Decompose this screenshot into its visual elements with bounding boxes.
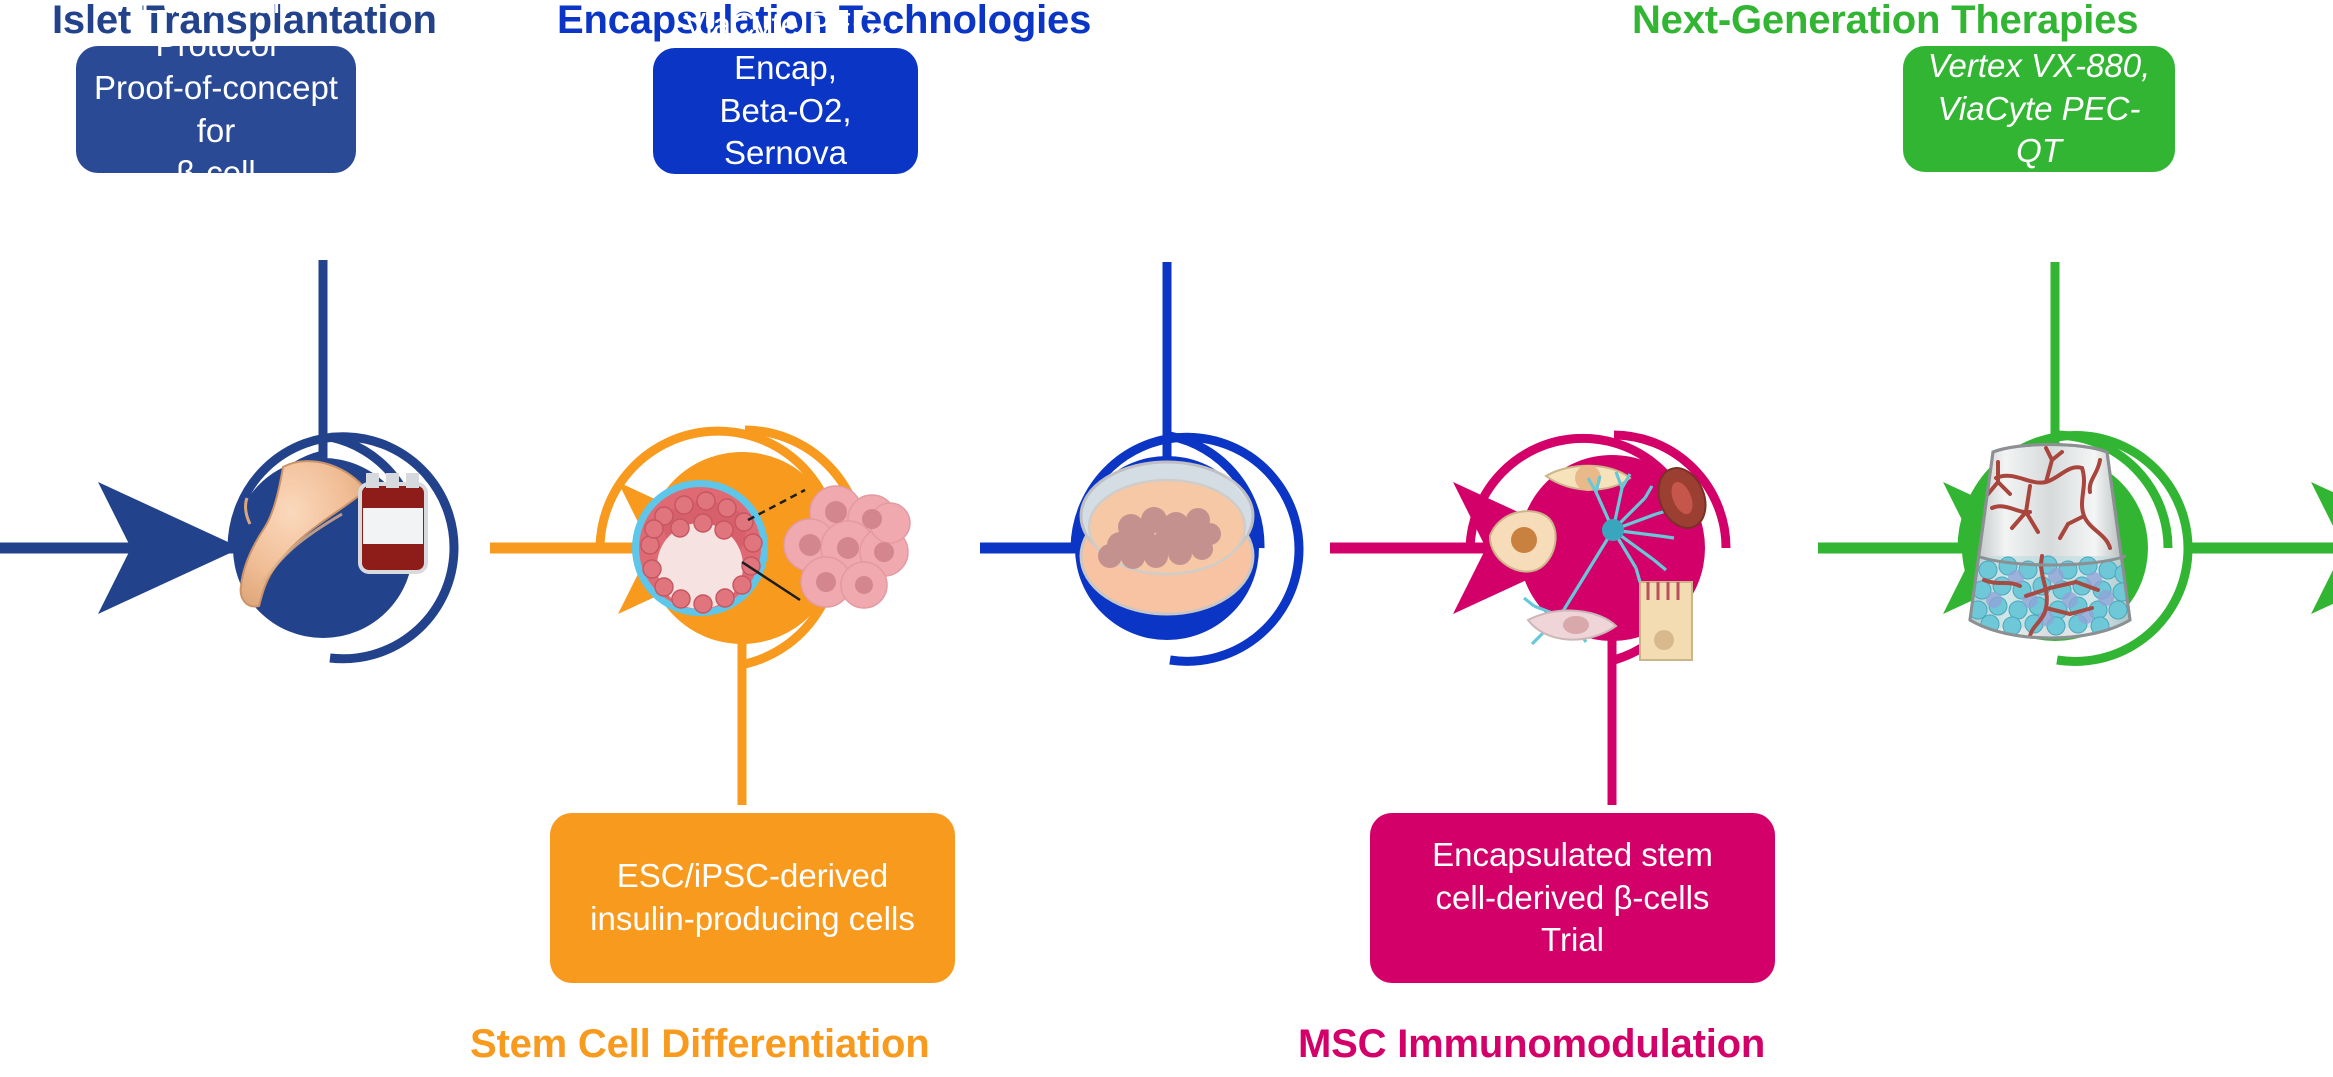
node-msc[interactable] [1470, 435, 1726, 660]
footer-stem-cell-differentiation: Stem Cell Differentiation [470, 1022, 930, 1067]
box-encapsulation-line-2: Beta-O2, Sernova [667, 90, 904, 176]
box-edmonton-line-3: β-cell replacement [90, 152, 342, 238]
box-encapsulation-line-1: ViaCyte PEC-Encap, [667, 4, 904, 90]
box-nextgen-line-1: Vertex VX-880, [1917, 45, 2161, 88]
box-nextgen-products[interactable]: Vertex VX-880, ViaCyte PEC-QT [1903, 46, 2175, 172]
box-msc-line-3: Trial [1432, 919, 1713, 962]
box-nextgen-line-2: ViaCyte PEC-QT [1917, 88, 2161, 174]
petri-dish-icon [1081, 462, 1253, 614]
box-edmonton-line-2: Proof-of-concept for [90, 67, 342, 153]
box-msc-line-1: Encapsulated stem [1432, 834, 1713, 877]
box-stemcell-line-2: insulin-producing cells [590, 898, 915, 941]
box-encapsulation-products[interactable]: ViaCyte PEC-Encap, Beta-O2, Sernova Cell… [653, 48, 918, 174]
node-encapsulation[interactable] [1075, 436, 1299, 661]
node-islet[interactable] [232, 437, 454, 659]
header-next-generation-therapies: Next-Generation Therapies [1632, 0, 2138, 43]
box-edmonton-line-1: Edmonton Protocol [90, 0, 342, 67]
box-msc-trial[interactable]: Encapsulated stem cell-derived β-cells T… [1370, 813, 1775, 983]
diagram-canvas: Islet Transplantation Encapsulation Tech… [0, 0, 2333, 1077]
box-stem-cell-derived[interactable]: ESC/iPSC-derived insulin-producing cells [550, 813, 955, 983]
box-edmonton-protocol[interactable]: Edmonton Protocol Proof-of-concept for β… [76, 46, 356, 173]
box-encapsulation-line-3: Cell Pouch [667, 175, 904, 218]
node-stemcell[interactable] [600, 430, 910, 664]
vascularized-device-icon [1968, 445, 2134, 639]
box-msc-line-2: cell-derived β-cells [1432, 877, 1713, 920]
node-nextgen[interactable] [1962, 435, 2188, 661]
footer-msc-immunomodulation: MSC Immunomodulation [1298, 1022, 1765, 1067]
box-stemcell-line-1: ESC/iPSC-derived [590, 855, 915, 898]
